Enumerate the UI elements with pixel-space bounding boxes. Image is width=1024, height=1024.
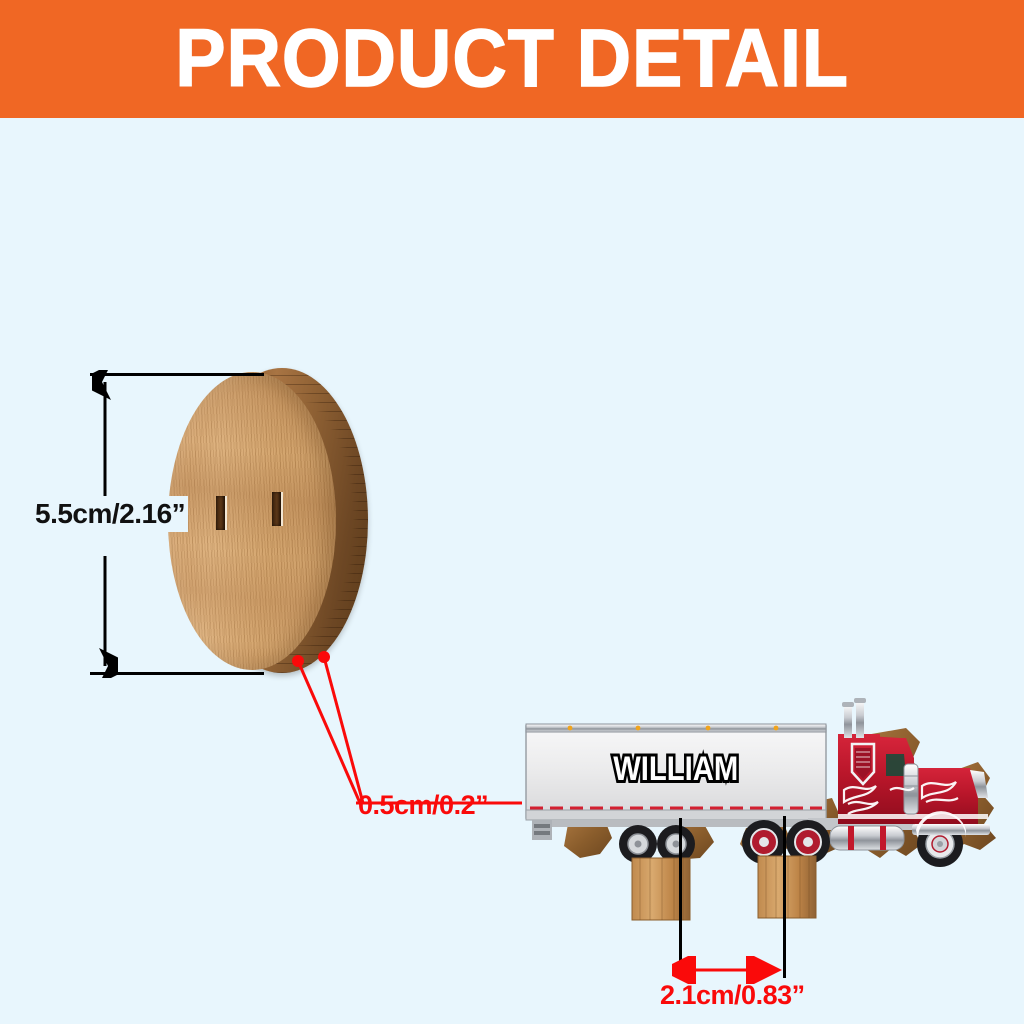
width-dimension-label: 2.1cm/0.83”	[660, 980, 805, 1011]
personalized-name-text: WILLIAM	[613, 749, 738, 788]
mounting-tabs	[632, 856, 816, 920]
base-front-face	[168, 372, 336, 670]
page-title: PRODUCT DETAIL	[175, 18, 849, 100]
semi-truck-ornament: WILLIAM	[508, 698, 1008, 948]
exhaust-stacks	[842, 698, 866, 738]
width-extension-line-right	[783, 816, 786, 978]
semi-truck-illustration: WILLIAM	[508, 698, 1008, 948]
trailer-wheels	[619, 825, 695, 863]
oval-wooden-base	[168, 368, 368, 673]
product-detail-stage: 5.5cm/2.16” 0.5cm/0.2”	[0, 118, 1024, 1024]
height-dimension-label: 5.5cm/2.16”	[32, 496, 188, 532]
width-extension-line-left	[679, 818, 682, 978]
thickness-dimension-label: 0.5cm/0.2”	[358, 790, 488, 821]
header-banner: PRODUCT DETAIL	[0, 0, 1024, 118]
base-slot-left	[216, 496, 225, 530]
base-slot-right	[272, 492, 281, 526]
